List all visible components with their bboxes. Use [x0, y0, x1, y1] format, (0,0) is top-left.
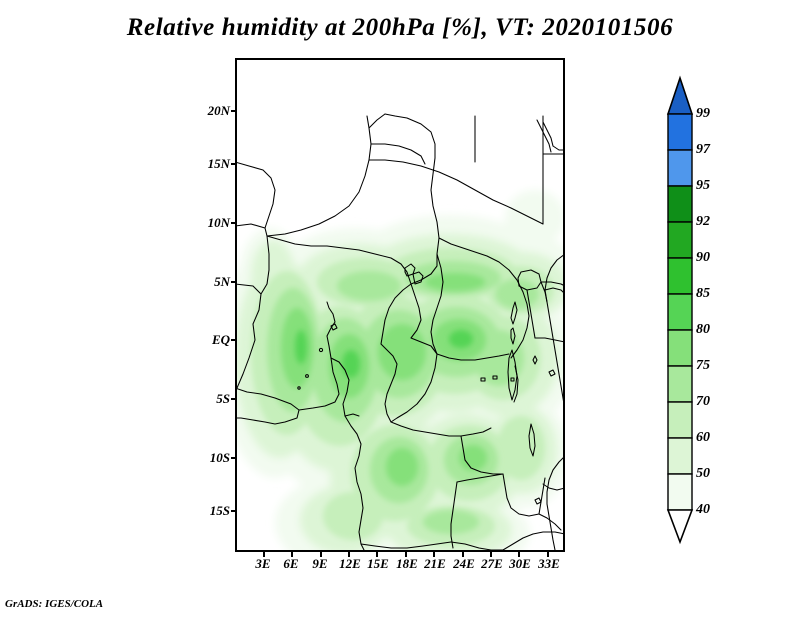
- colorbar-label-80: 80: [696, 322, 710, 338]
- y-tick-label-5n: 5N: [190, 274, 230, 290]
- y-tick-5n: [231, 281, 236, 283]
- colorbar-label-70: 70: [696, 394, 710, 410]
- x-tick-label-33e: 33E: [530, 556, 568, 572]
- y-tick-5s: [231, 398, 236, 400]
- colorbar-label-75: 75: [696, 358, 710, 374]
- x-tick-15e: [376, 552, 378, 557]
- map-frame: [235, 58, 565, 552]
- colorbar: 99 97 95 92 90 85 80 75 70 60 50 40: [666, 74, 736, 546]
- y-tick-label-5s: 5S: [190, 391, 230, 407]
- colorbar-label-99: 99: [696, 106, 710, 122]
- x-tick-24e: [462, 552, 464, 557]
- colorbar-label-60: 60: [696, 430, 710, 446]
- y-tick-eq: [231, 339, 236, 341]
- colorbar-label-97: 97: [696, 142, 710, 158]
- x-tick-12e: [348, 552, 350, 557]
- x-tick-18e: [405, 552, 407, 557]
- colorbar-arrow-bottom: [668, 510, 692, 542]
- x-tick-30e: [518, 552, 520, 557]
- x-tick-27e: [490, 552, 492, 557]
- y-tick-label-20n: 20N: [190, 103, 230, 119]
- x-tick-21e: [433, 552, 435, 557]
- y-tick-10n: [231, 222, 236, 224]
- x-tick-33e: [547, 552, 549, 557]
- colorbar-label-50: 50: [696, 466, 710, 482]
- y-tick-15n: [231, 163, 236, 165]
- y-tick-label-10n: 10N: [190, 215, 230, 231]
- x-tick-3e: [263, 552, 265, 557]
- colorbar-label-92: 92: [696, 214, 710, 230]
- y-tick-20n: [231, 110, 236, 112]
- x-tick-6e: [291, 552, 293, 557]
- y-tick-15s: [231, 510, 236, 512]
- y-tick-label-15n: 15N: [190, 156, 230, 172]
- colorbar-label-90: 90: [696, 250, 710, 266]
- y-tick-label-eq: EQ: [190, 332, 230, 348]
- page-title: Relative humidity at 200hPa [%], VT: 202…: [0, 14, 800, 42]
- colorbar-label-85: 85: [696, 286, 710, 302]
- map-plot-area: [235, 58, 565, 552]
- x-tick-9e: [320, 552, 322, 557]
- y-tick-label-15s: 15S: [186, 503, 230, 519]
- y-tick-10s: [231, 457, 236, 459]
- grads-credit: GrADS: IGES/COLA: [5, 598, 103, 610]
- colorbar-label-40: 40: [696, 502, 710, 518]
- colorbar-label-95: 95: [696, 178, 710, 194]
- colorbar-arrow-top: [668, 78, 692, 114]
- y-tick-label-10s: 10S: [186, 450, 230, 466]
